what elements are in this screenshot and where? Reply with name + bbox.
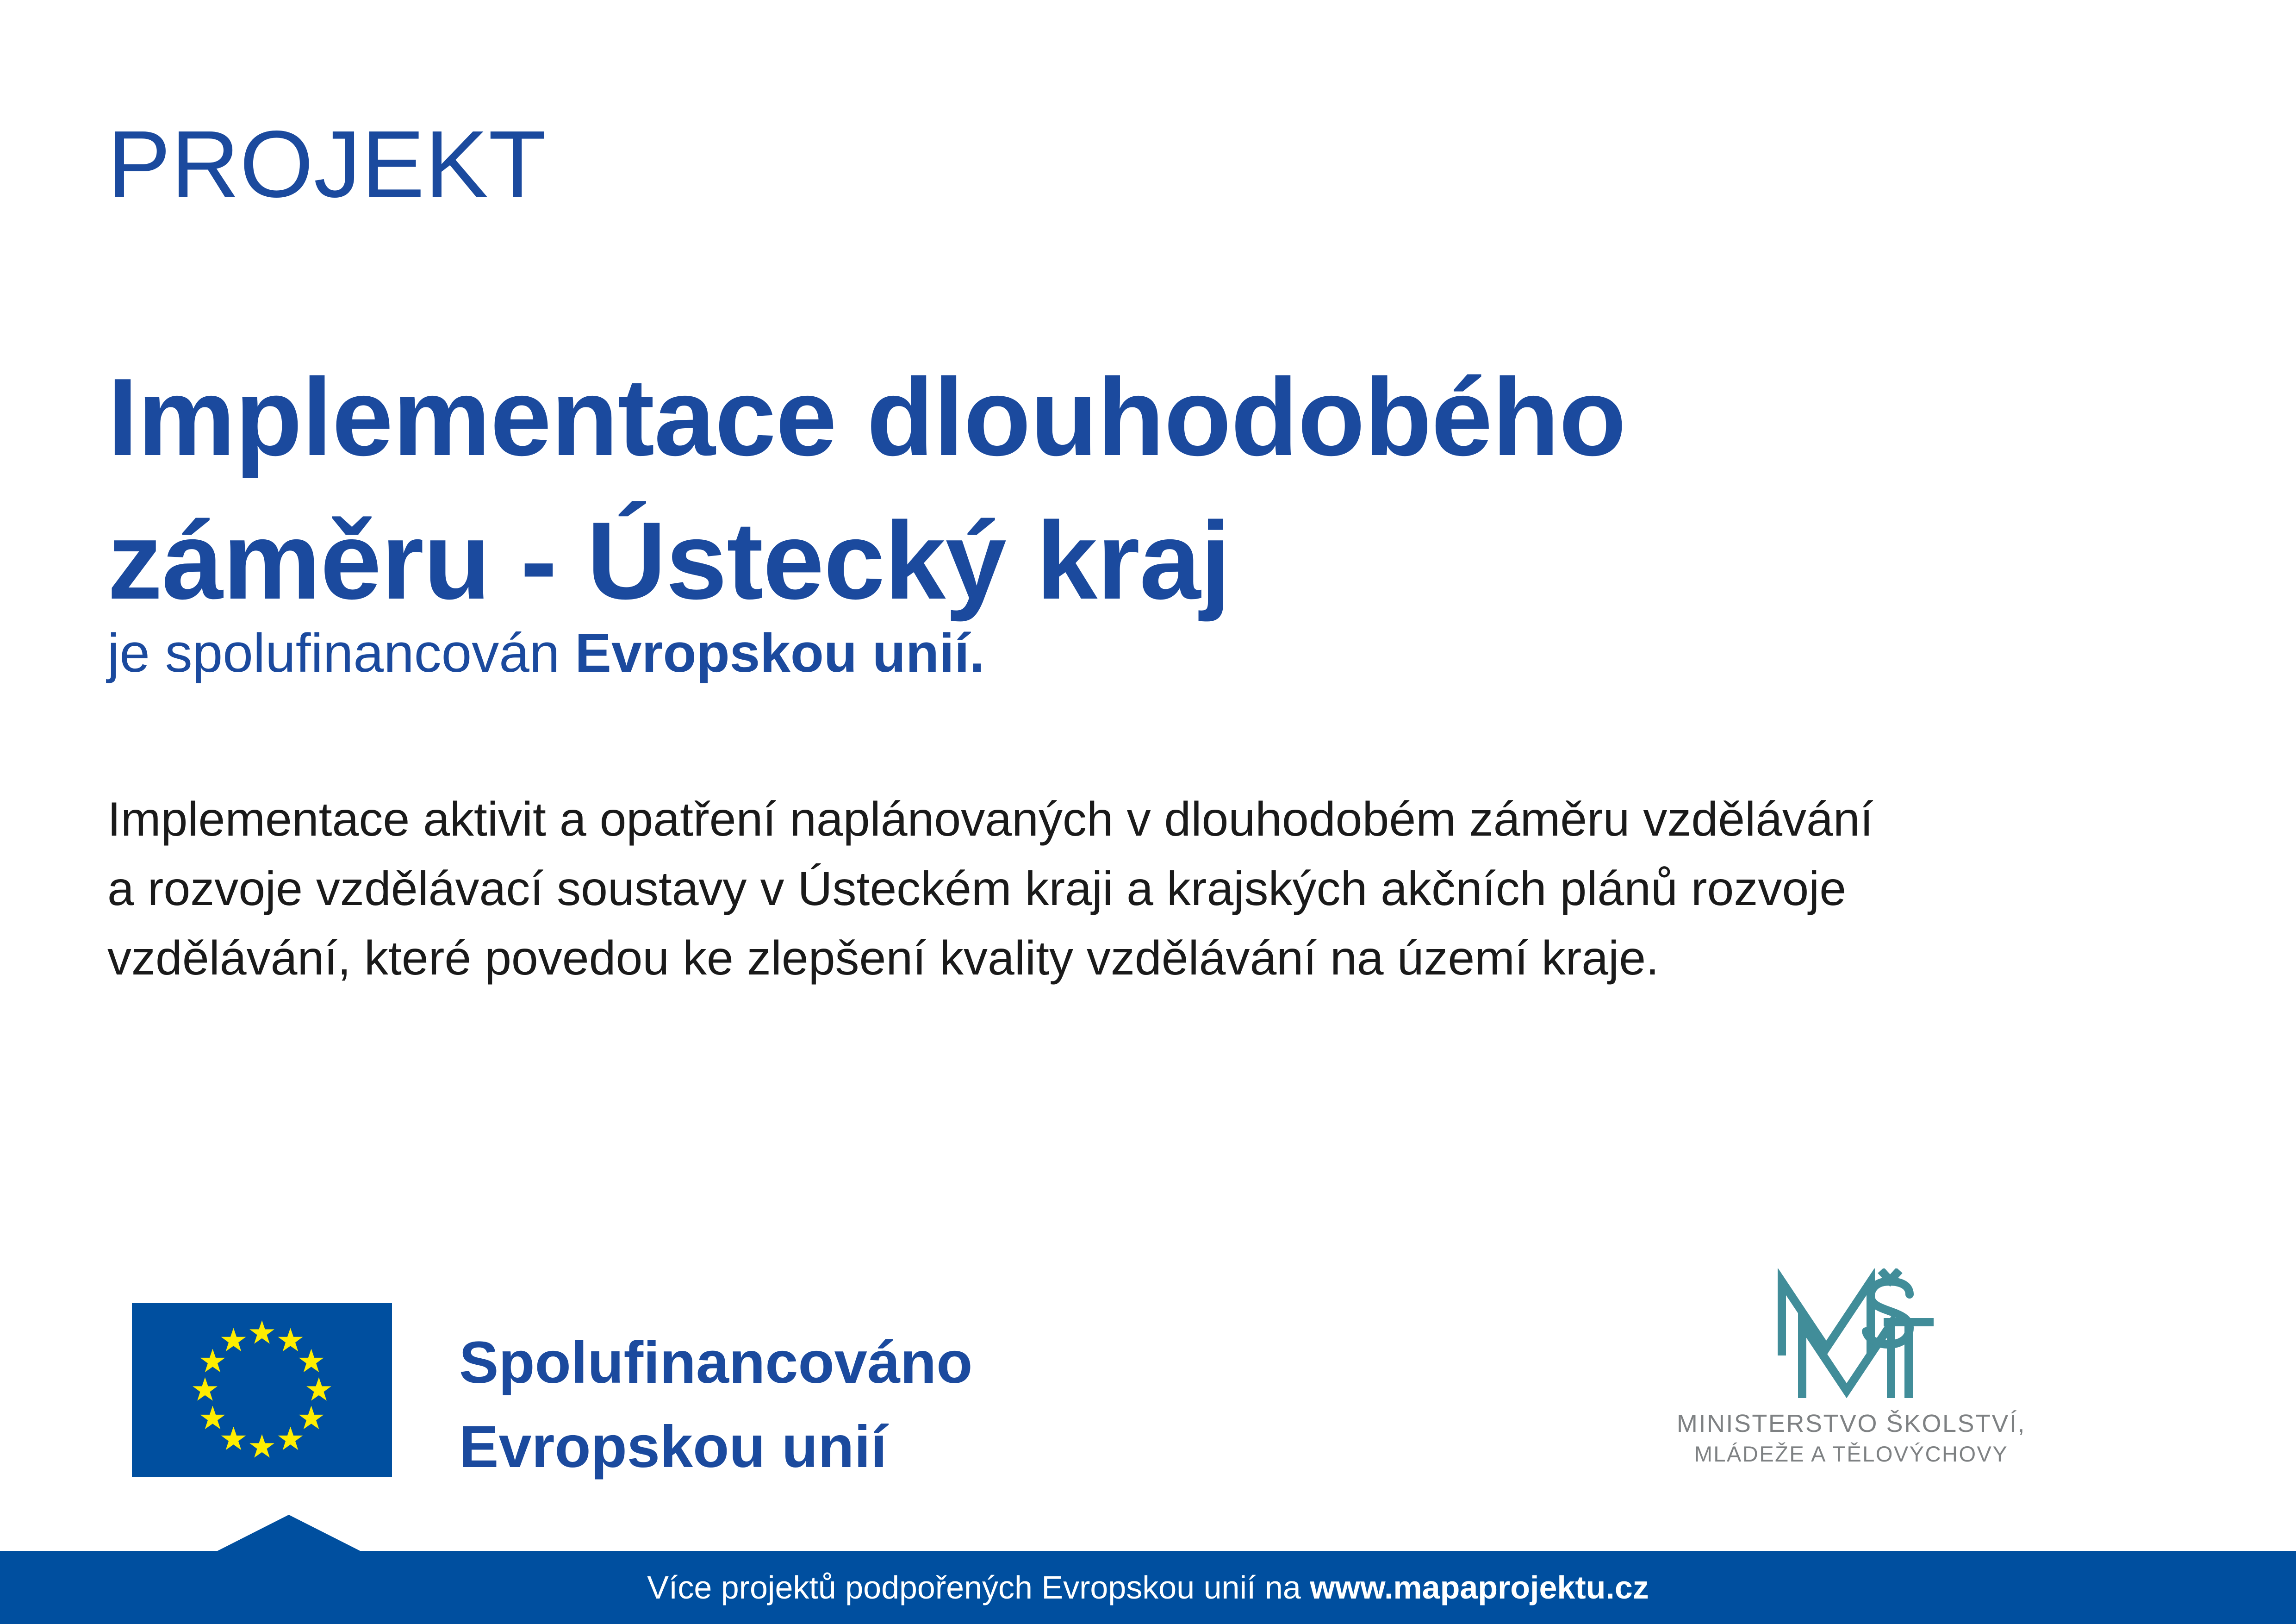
eu-star-icon — [221, 1328, 247, 1354]
eu-caption-line-2: Evropskou unií — [459, 1405, 972, 1489]
footer-plain-text: Více projektů podpořených Evropskou unií… — [647, 1569, 1310, 1605]
subtitle-emphasis-text: Evropskou unií. — [575, 623, 984, 684]
footer-arrow-icon — [218, 1515, 360, 1551]
footer-bar: Více projektů podpořených Evropskou unií… — [0, 1551, 2296, 1624]
msmt-logo: MINISTERSTVO ŠKOLSTVÍ, MLÁDEŽE A TĚLOVÝC… — [1657, 1268, 2046, 1468]
page-subtitle: je spolufinancován Evropskou unií. — [107, 619, 984, 688]
eu-star-icon — [199, 1406, 225, 1432]
eu-star-icon — [221, 1427, 247, 1453]
eu-star-icon — [249, 1320, 275, 1346]
msmt-name-line-2: MLÁDEŽE A TĚLOVÝCHOVY — [1657, 1440, 2046, 1468]
eu-star-icon — [278, 1328, 304, 1354]
page-title: Implementace dlouhodobého záměru - Ústec… — [107, 346, 1889, 632]
eu-flag-icon — [132, 1303, 392, 1477]
eu-stars-circle — [205, 1333, 319, 1447]
footer-url-link[interactable]: www.mapaprojektu.cz — [1310, 1569, 1649, 1605]
eu-caption: Spolufinancováno Evropskou unií — [459, 1303, 972, 1489]
eu-star-icon — [192, 1377, 218, 1403]
eu-star-icon — [249, 1434, 275, 1460]
msmt-name-line-1: MINISTERSTVO ŠKOLSTVÍ, — [1657, 1407, 2046, 1440]
eu-star-icon — [299, 1349, 324, 1375]
page-kicker: PROJEKT — [107, 117, 547, 212]
eu-star-icon — [278, 1427, 304, 1453]
footer-text: Více projektů podpořených Evropskou unií… — [647, 1571, 1649, 1604]
subtitle-plain-text: je spolufinancován — [107, 623, 575, 684]
project-description: Implementace aktivit a opatření naplánov… — [107, 785, 1912, 993]
eu-caption-line-1: Spolufinancováno — [459, 1321, 972, 1405]
msmt-monogram-icon — [1745, 1268, 1958, 1407]
eu-star-icon — [199, 1349, 225, 1375]
project-poster: PROJEKT Implementace dlouhodobého záměru… — [0, 0, 2296, 1624]
eu-funding-lockup: Spolufinancováno Evropskou unií — [132, 1303, 972, 1489]
eu-star-icon — [306, 1377, 332, 1403]
eu-star-icon — [299, 1406, 324, 1432]
